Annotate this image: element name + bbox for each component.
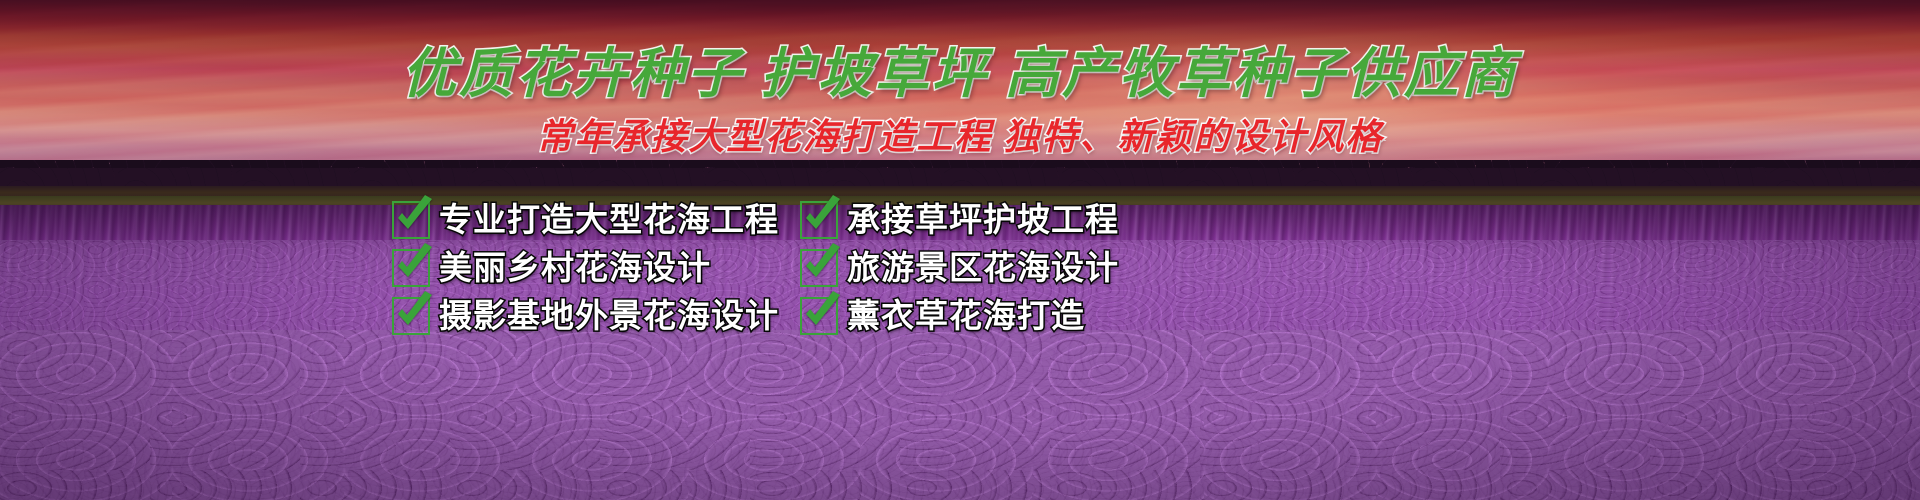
promo-banner: 优质花卉种子 护坡草坪 高产牧草种子供应商 常年承接大型花海打造工程 独特、新颖… <box>0 0 1920 500</box>
check-icon <box>800 201 838 239</box>
feature-label: 摄影基地外景花海设计 <box>439 297 779 335</box>
feature-label: 承接草坪护坡工程 <box>847 201 1119 239</box>
feature-item: 专业打造大型花海工程 <box>392 201 800 239</box>
check-icon <box>392 249 430 287</box>
banner-headline: 优质花卉种子 护坡草坪 高产牧草种子供应商 <box>0 44 1920 104</box>
feature-label: 薰衣草花海打造 <box>847 297 1085 335</box>
feature-label: 专业打造大型花海工程 <box>439 201 779 239</box>
check-icon <box>800 297 838 335</box>
feature-label: 美丽乡村花海设计 <box>439 249 711 287</box>
feature-item: 美丽乡村花海设计 <box>392 249 800 287</box>
feature-label: 旅游景区花海设计 <box>847 249 1119 287</box>
feature-item: 承接草坪护坡工程 <box>800 201 1152 239</box>
feature-item: 摄影基地外景花海设计 <box>392 297 800 335</box>
check-icon <box>392 201 430 239</box>
check-icon <box>392 297 430 335</box>
feature-item: 薰衣草花海打造 <box>800 297 1152 335</box>
check-icon <box>800 249 838 287</box>
banner-subheadline: 常年承接大型花海打造工程 独特、新颖的设计风格 <box>0 116 1920 158</box>
feature-item: 旅游景区花海设计 <box>800 249 1152 287</box>
feature-checklist: 专业打造大型花海工程 承接草坪护坡工程 美丽乡村花海设计 旅游景区花海设计 摄影 <box>392 196 1152 340</box>
